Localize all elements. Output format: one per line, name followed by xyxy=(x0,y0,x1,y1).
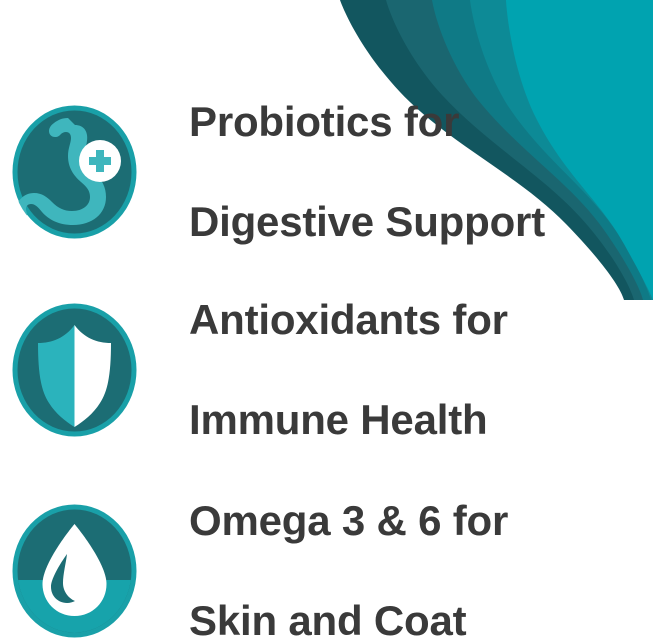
benefits-infographic: Probiotics for Digestive Support Antioxi… xyxy=(0,0,653,639)
water-droplet-icon xyxy=(12,504,137,638)
feature-label-line: Antioxidants for xyxy=(189,295,653,345)
feature-row: Omega 3 & 6 for Skin and Coat xyxy=(0,503,653,639)
feature-label-line: Skin and Coat xyxy=(189,596,653,639)
stomach-plus-icon xyxy=(12,105,137,239)
feature-row: Probiotics for Digestive Support xyxy=(0,104,653,240)
feature-row: Antioxidants for Immune Health xyxy=(0,302,653,438)
feature-label: Omega 3 & 6 for Skin and Coat xyxy=(189,446,653,639)
feature-label-line: Immune Health xyxy=(189,395,653,445)
feature-label-line: Digestive Support xyxy=(189,197,653,247)
feature-label-line: Probiotics for xyxy=(189,97,653,147)
feature-label-line: Omega 3 & 6 for xyxy=(189,496,653,546)
shield-icon xyxy=(12,303,137,437)
